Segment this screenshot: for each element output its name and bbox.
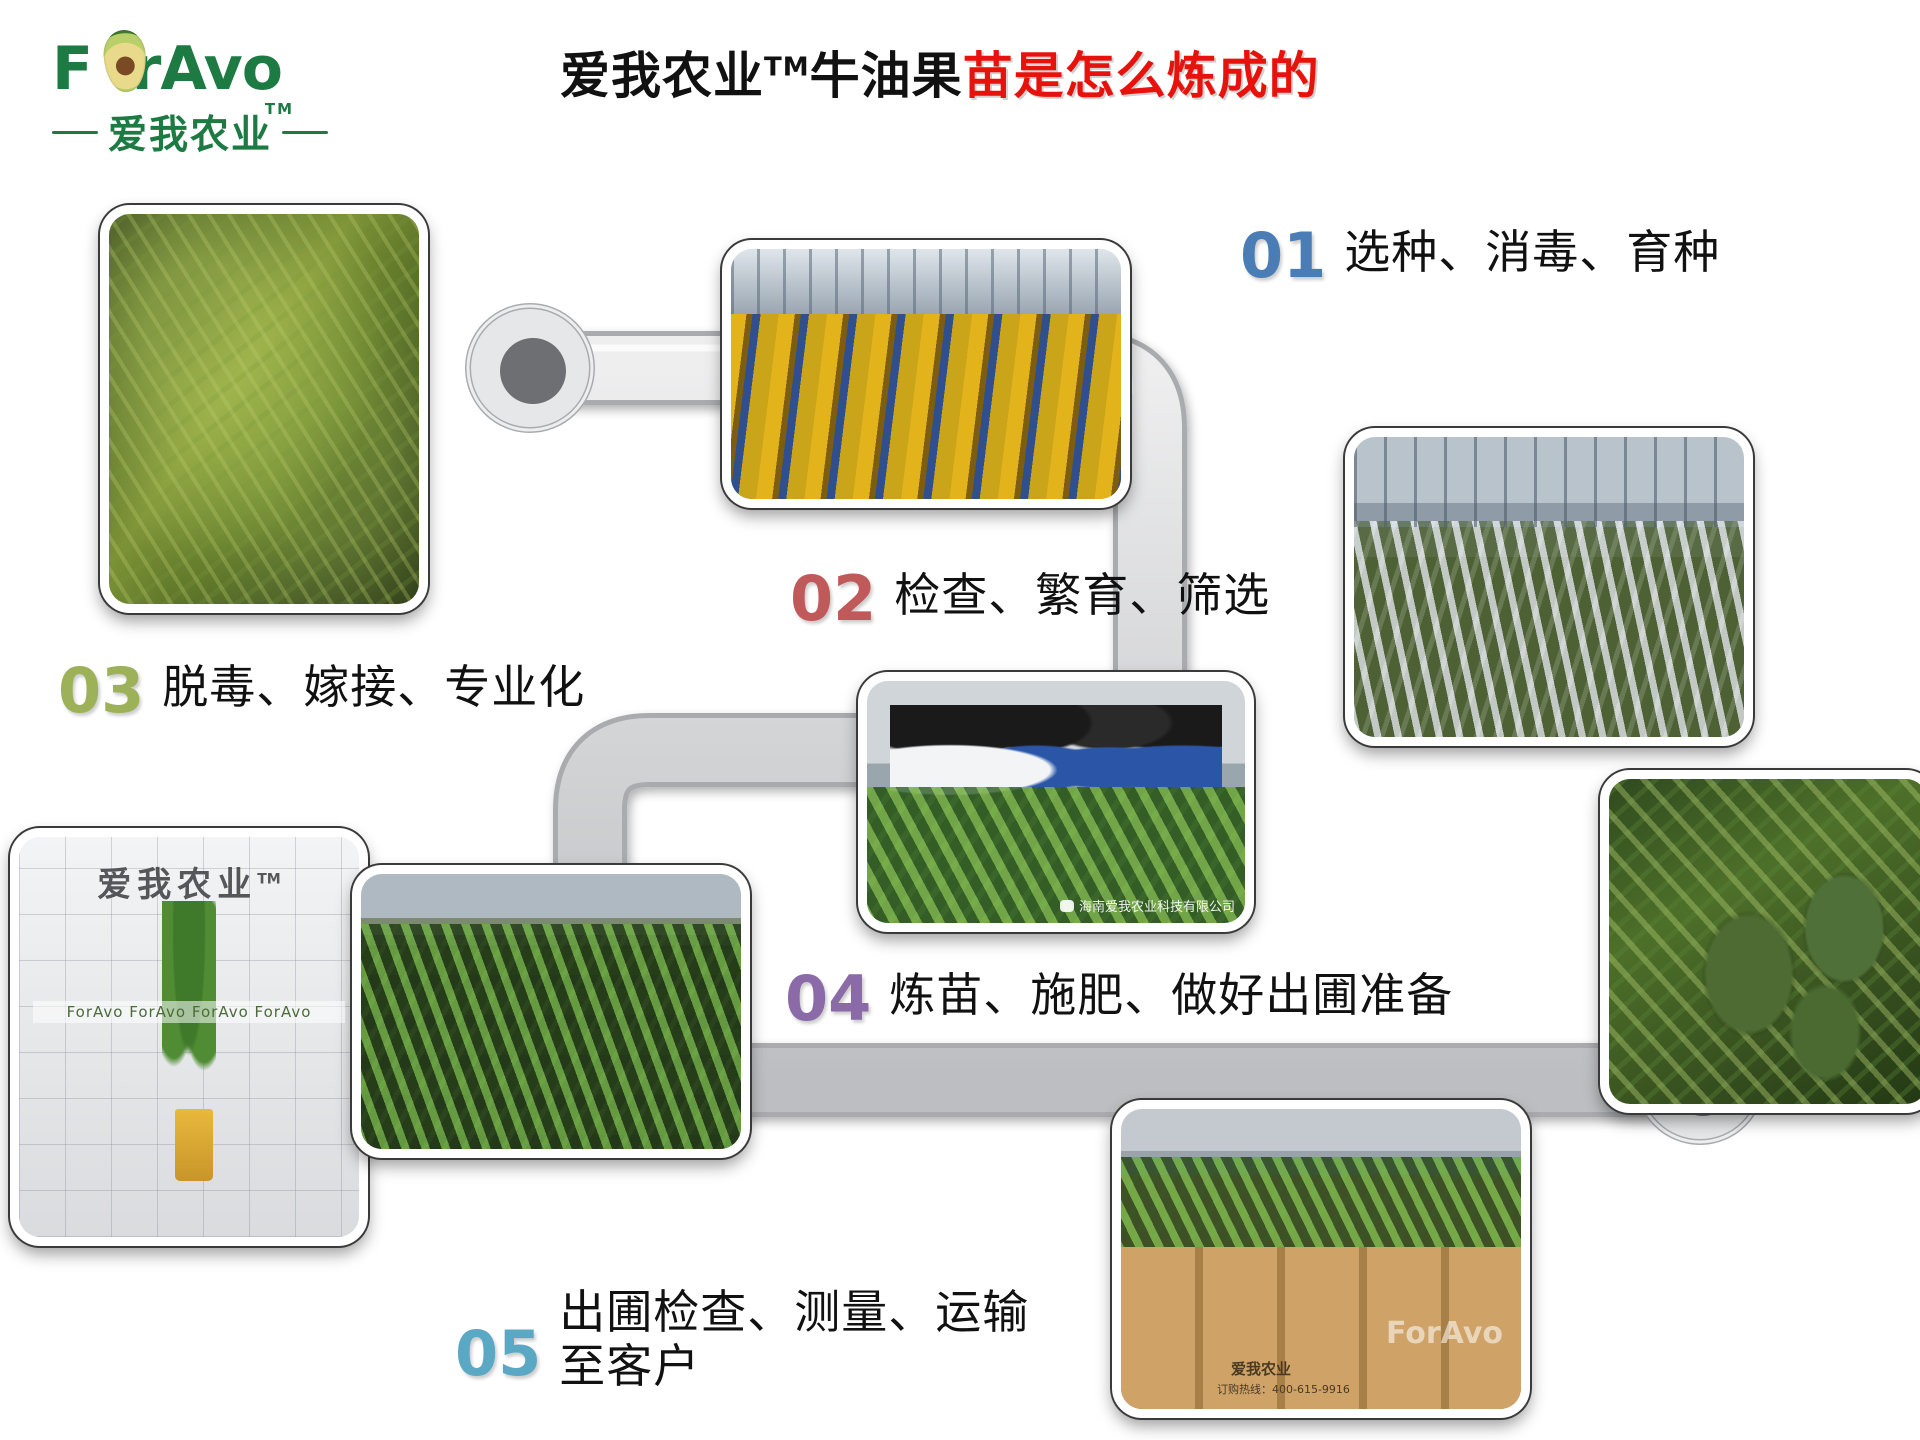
photo-nursery-rows: [352, 865, 750, 1158]
packing-box-brand-label: 爱我农业: [1231, 1360, 1291, 1379]
photo-packing-boxes-image: [1121, 1109, 1521, 1409]
measuring-board-brand: 爱我农业TM: [19, 857, 359, 906]
page-title-trademark: TM: [764, 52, 810, 82]
step-02-inspection-breeding: 02 检查、繁育、筛选: [790, 568, 1270, 630]
photo-packing-boxes: ForAvo 爱我农业 订购热线：400-615-9916: [1112, 1100, 1530, 1418]
step-04-hardening-fertilizing: 04 炼苗、施肥、做好出圃准备: [785, 968, 1453, 1030]
logo-dash-left: [52, 131, 98, 134]
measuring-board-strip: ForAvo ForAvo ForAvo ForAvo: [33, 1001, 346, 1023]
step-02-label: 检查、繁育、筛选: [894, 568, 1270, 622]
photo-measuring-board-image: 爱我农业TM ForAvo ForAvo ForAvo ForAvo: [19, 837, 359, 1237]
photo-nursery-rows-image: [361, 874, 741, 1149]
photo-grafting-house-image: [1354, 437, 1744, 737]
step-03-virus-free-grafting: 03 脱毒、嫁接、专业化: [58, 660, 585, 722]
step-05-number: 05: [455, 1323, 541, 1385]
watermark-logo-icon: [1060, 900, 1074, 912]
photo-fruit-on-tree-image: [1609, 779, 1920, 1104]
step-05-shipping-delivery: 05 出圃检查、测量、运输 至客户: [455, 1285, 1029, 1394]
photo-seed-trays-image: [731, 249, 1121, 499]
photo-grafting-house: [1345, 428, 1753, 746]
photo-avocado-flower-image: [109, 214, 419, 604]
logo-chinese-name: 爱我农业TM: [108, 104, 272, 160]
measuring-board-pot: [175, 1109, 212, 1181]
logo-dash-right: [282, 131, 328, 134]
logo-subtitle: 爱我农业TM: [52, 104, 352, 160]
infographic-canvas: F rAvo 爱我农业TM 爱我农业TM牛油果苗是怎么炼成的 海南爱我农业科技有…: [0, 0, 1920, 1440]
connector-start-node: [468, 306, 592, 430]
logo-wordmark: F rAvo: [52, 36, 352, 102]
page-title-black-part: 爱我农业: [560, 47, 764, 105]
step-03-number: 03: [58, 660, 144, 722]
logo-wordmark-text: F rAvo: [52, 34, 282, 104]
photo-team-inspection-watermark: 海南爱我农业科技有限公司: [1060, 896, 1235, 915]
step-05-label-line2: 至客户: [559, 1339, 700, 1393]
step-01-seed-selection: 01 选种、消毒、育种: [1240, 225, 1720, 287]
step-05-label-line1: 出圃检查、测量、运输: [559, 1285, 1029, 1339]
step-01-number: 01: [1240, 225, 1326, 287]
photo-fruit-on-tree: [1600, 770, 1920, 1113]
step-03-label: 脱毒、嫁接、专业化: [162, 660, 585, 714]
photo-avocado-flower: [100, 205, 428, 613]
step-01-label: 选种、消毒、育种: [1344, 225, 1720, 279]
step-02-number: 02: [790, 568, 876, 630]
photo-team-inspection: 海南爱我农业科技有限公司: [858, 672, 1254, 932]
step-04-label: 炼苗、施肥、做好出圃准备: [889, 968, 1453, 1022]
page-title-black-part2: 牛油果: [810, 47, 963, 105]
page-title-red-part: 苗是怎么炼成的: [963, 47, 1320, 105]
measuring-board-tm: TM: [257, 872, 280, 888]
photo-team-inspection-image: [867, 681, 1245, 923]
page-title: 爱我农业TM牛油果苗是怎么炼成的: [560, 48, 1320, 106]
packing-box-phone-label: 订购热线：400-615-9916: [1217, 1383, 1350, 1397]
step-05-label-block: 出圃检查、测量、运输 至客户: [559, 1285, 1029, 1394]
photo-seed-trays: [722, 240, 1130, 508]
packing-box-side-brand: ForAvo: [1386, 1316, 1503, 1351]
logo-trademark-mark: TM: [265, 100, 294, 118]
step-04-number: 04: [785, 968, 871, 1030]
watermark-text: 海南爱我农业科技有限公司: [1079, 896, 1235, 915]
photo-measuring-board: 爱我农业TM ForAvo ForAvo ForAvo ForAvo: [10, 828, 368, 1246]
brand-logo: F rAvo 爱我农业TM: [52, 36, 352, 156]
